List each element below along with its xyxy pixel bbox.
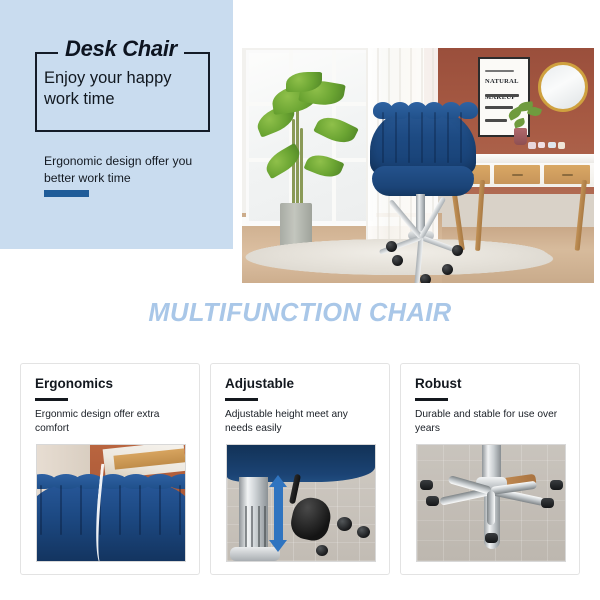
accent-bar xyxy=(44,190,89,197)
backrest-rib-5 xyxy=(447,112,449,163)
thumb-rib-2 xyxy=(80,485,82,535)
headline-note: Ergonomic design offer you better work t… xyxy=(44,153,214,188)
thumb-rib-1 xyxy=(60,485,62,535)
backrest-rib-6 xyxy=(460,112,462,163)
card-thumbnail xyxy=(416,444,566,562)
base-caster-cap-3 xyxy=(550,480,563,490)
card-description: Durable and stable for use over years xyxy=(415,408,567,436)
headline-panel: Desk Chair Enjoy your happy work time Er… xyxy=(0,0,233,249)
chair-seat xyxy=(372,166,474,197)
cosmetic-jar-2 xyxy=(548,142,556,148)
poster-line-top xyxy=(485,70,514,72)
height-lever-image xyxy=(227,445,375,561)
chair-caster-3 xyxy=(386,241,397,252)
round-mirror xyxy=(538,62,588,112)
base-closeup-image xyxy=(417,445,565,561)
headline-subtitle: Enjoy your happy work time xyxy=(44,68,204,110)
backrest-rib-4 xyxy=(434,112,436,163)
thumb-rib-0 xyxy=(40,485,42,535)
feature-card-list: Ergonomics Ergonmic design offer extra c… xyxy=(0,363,600,578)
drawer-knob-1 xyxy=(512,174,523,176)
thumb-caster-0 xyxy=(337,517,352,531)
card-description: Ergonmic design offer extra comfort xyxy=(35,408,187,436)
backrest-rib-0 xyxy=(382,112,384,163)
arrow-shaft-icon xyxy=(274,487,283,543)
base-caster-cap-2 xyxy=(420,480,433,490)
thumb-rib-4 xyxy=(119,485,121,535)
thumb-rib-5 xyxy=(139,485,141,535)
card-rule xyxy=(415,398,448,401)
cosmetic-jar-1 xyxy=(538,142,545,148)
card-title: Adjustable xyxy=(225,376,294,391)
card-description: Adjustable height meet any needs easily xyxy=(225,408,377,436)
poster-word-0: NATURAL xyxy=(485,78,519,85)
base-caster-cap-0 xyxy=(426,496,439,506)
backrest-rib-1 xyxy=(395,112,397,163)
thumb-rib-7 xyxy=(179,485,181,535)
backrest-closeup-image xyxy=(37,445,185,561)
base-arm-4 xyxy=(487,491,495,525)
drawer-knob-2 xyxy=(562,174,573,176)
backrest-rib-2 xyxy=(408,112,410,163)
card-thumbnail xyxy=(36,444,186,562)
card-rule xyxy=(35,398,68,401)
card-rule xyxy=(225,398,258,401)
feature-card-adjustable: Adjustable Adjustable height meet any ne… xyxy=(210,363,390,575)
chair-caster-4 xyxy=(420,274,431,283)
card-title: Robust xyxy=(415,376,462,391)
flower-vase xyxy=(514,128,527,145)
feature-card-ergonomics: Ergonomics Ergonmic design offer extra c… xyxy=(20,363,200,575)
chair-caster-1 xyxy=(392,255,403,266)
thumb-caster-2 xyxy=(316,545,328,556)
thumb-rib-6 xyxy=(159,485,161,535)
poster-line-0 xyxy=(485,94,519,97)
feature-card-robust: Robust Durable and stable for use over y… xyxy=(400,363,580,575)
hero-room-photo: NATURALMAKEUP xyxy=(242,48,594,283)
section-title: MULTIFUNCTION CHAIR xyxy=(0,299,600,328)
hero-scene: NATURALMAKEUP xyxy=(242,48,594,283)
arrow-down-icon xyxy=(269,540,287,552)
product-infographic: Desk Chair Enjoy your happy work time Er… xyxy=(0,0,600,600)
card-title: Ergonomics xyxy=(35,376,113,391)
poster-line-2 xyxy=(485,119,507,122)
desk-drawer-1 xyxy=(494,165,540,185)
backrest-rib-3 xyxy=(421,112,423,163)
poster-line-1 xyxy=(485,106,513,109)
cosmetic-jar-0 xyxy=(528,142,536,149)
thumb-scallop-6 xyxy=(169,474,186,489)
card-thumbnail xyxy=(226,444,376,562)
cosmetic-jar-3 xyxy=(558,142,565,149)
product-title: Desk Chair xyxy=(58,37,184,60)
base-caster-cap-4 xyxy=(485,533,498,543)
arrow-up-icon xyxy=(269,475,287,487)
base-caster-cap-1 xyxy=(541,498,554,508)
